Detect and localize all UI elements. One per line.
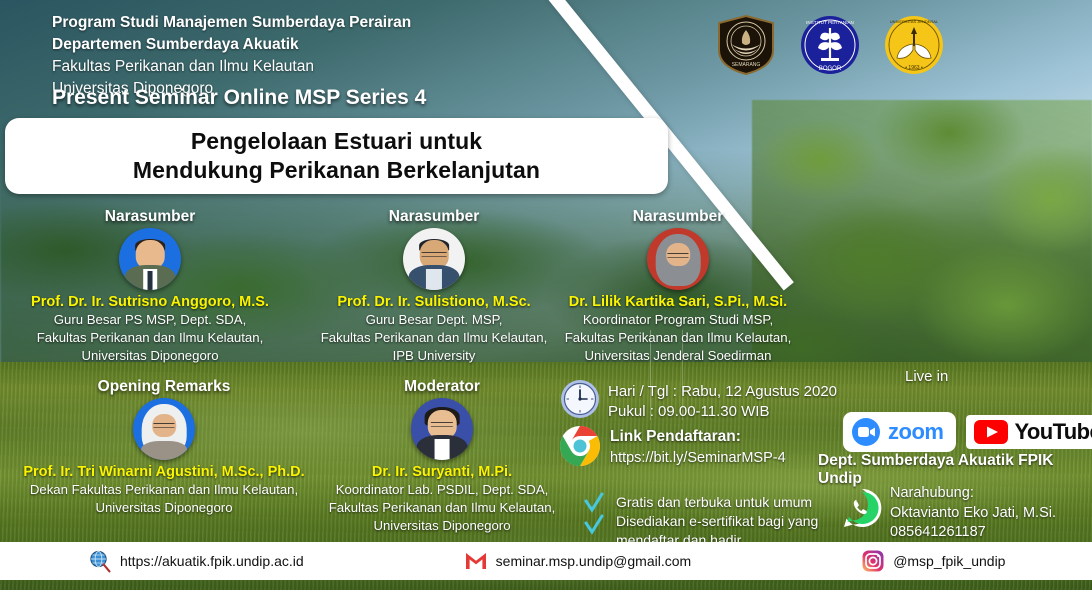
speaker-card-1: Narasumber Prof. Dr. Ir. Sutrisno Anggor… — [0, 208, 300, 364]
globe-search-icon — [88, 549, 112, 573]
speaker-1-name: Prof. Dr. Ir. Sutrisno Anggoro, M.S. — [0, 294, 300, 311]
svg-text:UNIVERSITAS JENDERAL: UNIVERSITAS JENDERAL — [890, 19, 939, 24]
speaker-3-aff-3: Universitas Jenderal Soedirman — [528, 348, 828, 365]
official-card-opening-remarks: Opening Remarks Prof. Ir. Tri Winarni Ag… — [14, 378, 314, 517]
speaker-card-3: Narasumber Dr. Lilik Kartika Sari, S.Pi.… — [528, 208, 828, 364]
opening-remarks-avatar — [133, 398, 195, 460]
svg-text:SEMARANG: SEMARANG — [732, 62, 761, 68]
zoom-badge[interactable]: zoom — [843, 412, 956, 452]
undip-logo: SEMARANG — [715, 14, 777, 76]
speaker-1-aff-2: Fakultas Perikanan dan Ilmu Kelautan, — [0, 330, 300, 347]
org-line-3: Fakultas Perikanan dan Ilmu Kelautan — [52, 56, 411, 78]
opening-remarks-aff-1: Dekan Fakultas Perikanan dan Ilmu Kelaut… — [14, 482, 314, 499]
svg-text:• 1963 •: • 1963 • — [905, 65, 923, 71]
speaker-2-avatar — [403, 228, 465, 290]
contact-label: Narahubung: — [890, 484, 1056, 504]
event-time: Pukul : 09.00-11.30 WIB — [608, 402, 837, 422]
svg-text:INSTITUT PERTANIAN: INSTITUT PERTANIAN — [806, 20, 854, 25]
ipb-logo: INSTITUT PERTANIAN BOGOR — [799, 14, 861, 76]
speaker-1-role: Narasumber — [0, 208, 300, 226]
speaker-3-aff-1: Koordinator Program Studi MSP, — [528, 312, 828, 329]
title-line-1: Pengelolaan Estuari untuk — [191, 127, 482, 156]
instagram-icon — [861, 549, 885, 573]
zoom-icon — [851, 417, 881, 447]
speaker-3-aff-2: Fakultas Perikanan dan Ilmu Kelautan, — [528, 330, 828, 347]
svg-text:BOGOR: BOGOR — [819, 66, 842, 72]
org-line-1: Program Studi Manajemen Sumberdaya Perai… — [52, 12, 411, 34]
org-line-2: Departemen Sumberdaya Akuatik — [52, 34, 411, 56]
footer-website-item[interactable]: https://akuatik.fpik.undip.ac.id — [88, 549, 304, 573]
speaker-3-name: Dr. Lilik Kartika Sari, S.Pi., M.Si. — [528, 294, 828, 311]
contact-block: Narahubung: Oktavianto Eko Jati, M.Si. 0… — [890, 484, 1056, 543]
broadcast-badges: zoom YouTube — [843, 412, 1092, 452]
moderator-name: Dr. Ir. Suryanti, M.Pi. — [292, 464, 592, 481]
registration-url[interactable]: https://bit.ly/SeminarMSP-4 — [610, 450, 786, 466]
opening-remarks-name: Prof. Ir. Tri Winarni Agustini, M.Sc., P… — [14, 464, 314, 481]
speaker-1-aff-3: Universitas Diponegoro — [0, 348, 300, 365]
registration-label: Link Pendaftaran: — [610, 428, 741, 446]
host-channel: Dept. Sumberdaya Akuatik FPIK Undip — [818, 452, 1092, 488]
official-card-moderator: Moderator Dr. Ir. Suryanti, M.Pi. Koordi… — [292, 378, 592, 534]
check-icon-1 — [583, 492, 605, 514]
speaker-1-avatar — [119, 228, 181, 290]
clock-icon — [560, 379, 600, 419]
present-seminar-line: Present Seminar Online MSP Series 4 — [52, 86, 426, 110]
footer-website-text: https://akuatik.fpik.undip.ac.id — [120, 553, 304, 569]
opening-remarks-aff-2: Universitas Diponegoro — [14, 500, 314, 517]
title-line-2: Mendukung Perikanan Berkelanjutan — [133, 156, 540, 185]
chrome-browser-icon — [558, 424, 602, 468]
live-in-label: Live in — [905, 368, 948, 385]
zoom-label: zoom — [888, 419, 943, 445]
speaker-3-avatar — [647, 228, 709, 290]
moderator-aff-2: Fakultas Perikanan dan Ilmu Kelautan, — [292, 500, 592, 517]
unsoed-logo: UNIVERSITAS JENDERAL • 1963 • — [883, 14, 945, 76]
seminar-title-box: Pengelolaan Estuari untuk Mendukung Peri… — [5, 118, 668, 194]
opening-remarks-role: Opening Remarks — [14, 378, 314, 396]
contact-person: Oktavianto Eko Jati, M.Si. — [890, 504, 1056, 524]
gmail-icon — [464, 549, 488, 573]
footer-email-text: seminar.msp.undip@gmail.com — [496, 553, 692, 569]
seminar-poster: Program Studi Manajemen Sumberdaya Perai… — [0, 0, 1092, 590]
check-icon-2 — [583, 514, 605, 536]
speaker-3-role: Narasumber — [528, 208, 828, 226]
youtube-icon — [974, 420, 1008, 444]
footer-instagram-item[interactable]: @msp_fpik_undip — [861, 549, 1005, 573]
contact-phone: 085641261187 — [890, 523, 1056, 543]
footer-bar: https://akuatik.fpik.undip.ac.id seminar… — [0, 542, 1092, 580]
footer-email-item[interactable]: seminar.msp.undip@gmail.com — [464, 549, 692, 573]
event-datetime-block: Hari / Tgl : Rabu, 12 Agustus 2020 Pukul… — [608, 382, 837, 422]
whatsapp-icon — [842, 488, 882, 528]
moderator-aff-3: Universitas Diponegoro — [292, 518, 592, 535]
moderator-aff-1: Koordinator Lab. PSDIL, Dept. SDA, — [292, 482, 592, 499]
benefit-note-2: Disediakan e-sertifikat bagi yang — [616, 512, 818, 531]
university-logos: SEMARANG INSTITUT PERTANIAN BOGOR — [715, 14, 945, 76]
youtube-badge[interactable]: YouTube — [966, 415, 1092, 449]
youtube-label: YouTube — [1014, 419, 1092, 445]
moderator-role: Moderator — [292, 378, 592, 396]
benefit-note-1: Gratis dan terbuka untuk umum — [616, 493, 818, 512]
moderator-avatar — [411, 398, 473, 460]
footer-instagram-text: @msp_fpik_undip — [893, 553, 1005, 569]
speaker-1-aff-1: Guru Besar PS MSP, Dept. SDA, — [0, 312, 300, 329]
event-day-date: Hari / Tgl : Rabu, 12 Agustus 2020 — [608, 382, 837, 402]
